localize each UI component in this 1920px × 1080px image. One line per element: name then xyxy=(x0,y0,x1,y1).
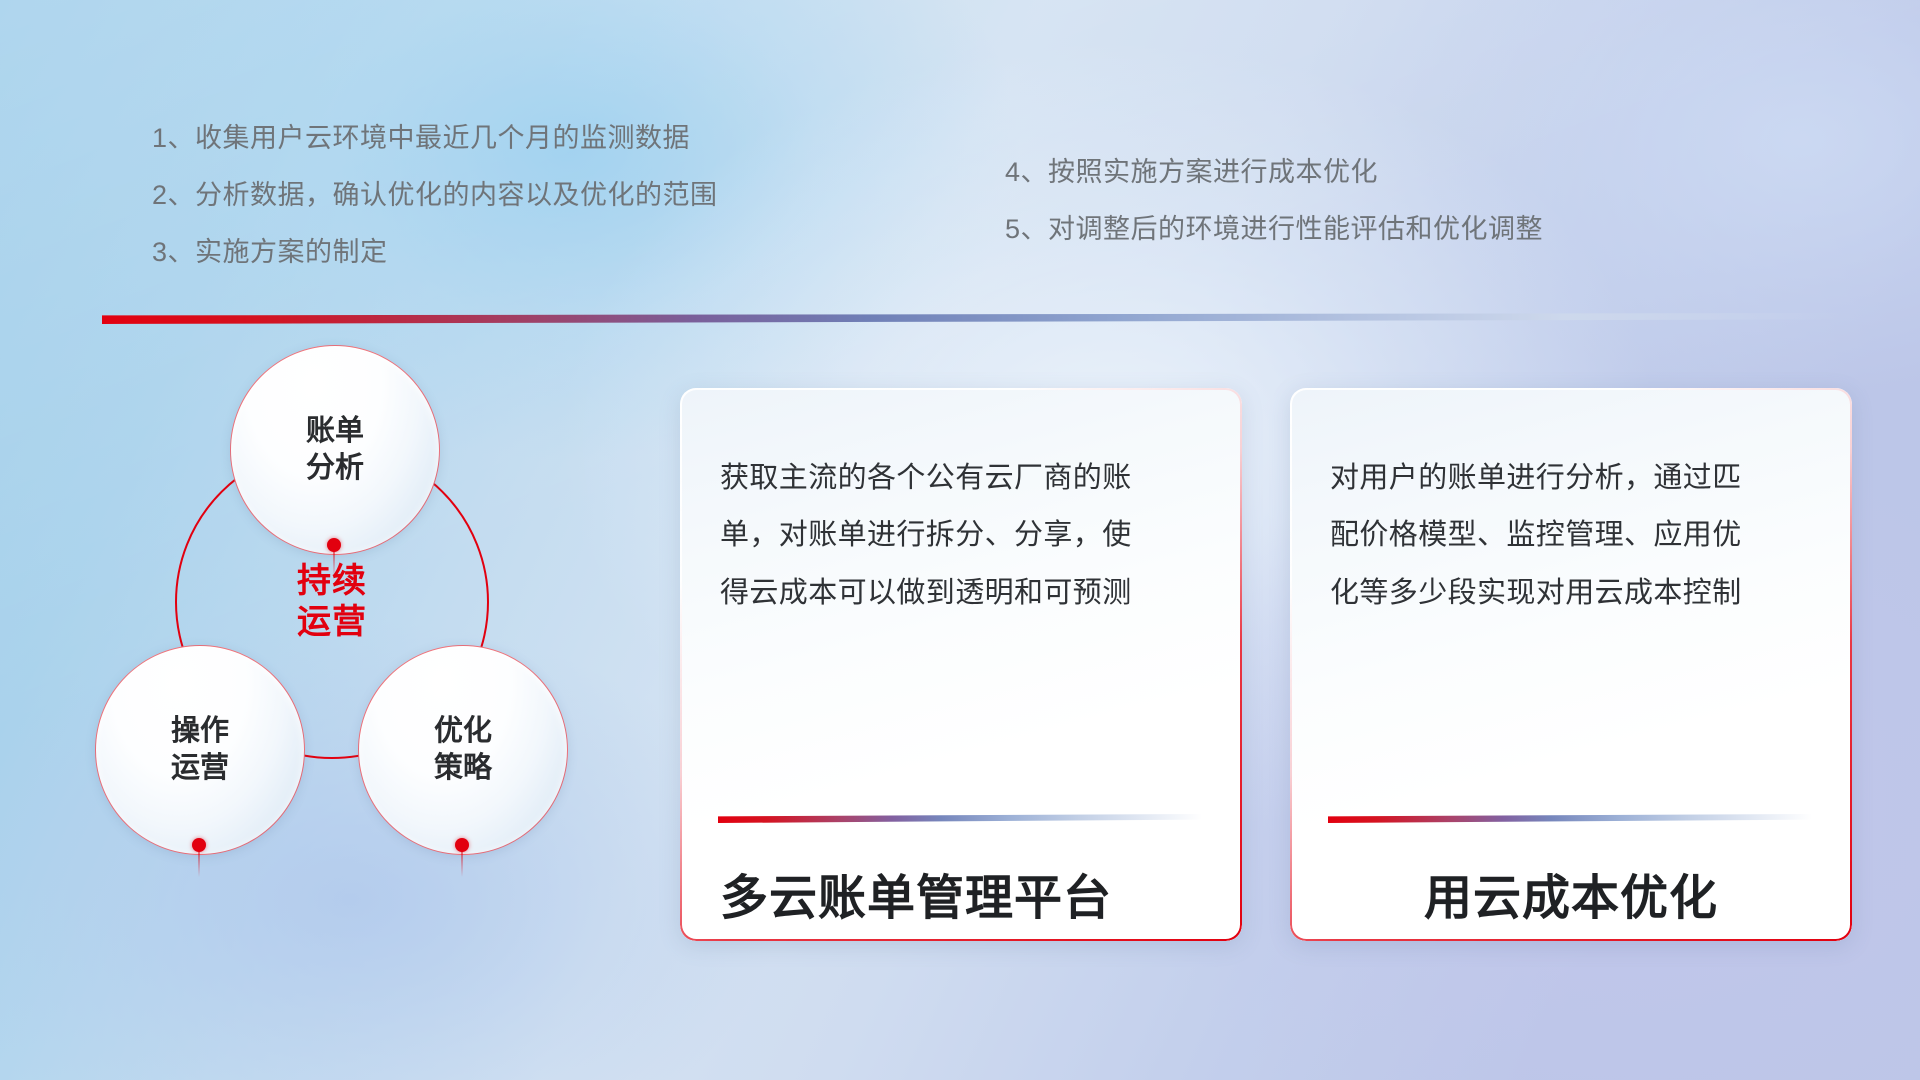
card-1-description-line2: 单，对账单进行拆分、分享，使 xyxy=(720,507,1206,564)
card-2-description: 对用户的账单进行分析，通过匹 配价格模型、监控管理、应用优 化等多少段实现对用云… xyxy=(1330,450,1816,622)
card-1-description-line1: 获取主流的各个公有云厂商的账 xyxy=(720,450,1206,507)
card-1-title: 多云账单管理平台 xyxy=(720,858,1212,928)
steps-list-right: 4、按照实施方案进行成本优化 5、对调整后的环境进行性能评估和优化调整 xyxy=(1005,159,1543,243)
node-dot-right xyxy=(455,838,469,852)
card-cloud-cost-optimization[interactable]: 对用户的账单进行分析，通过匹 配价格模型、监控管理、应用优 化等多少段实现对用云… xyxy=(1290,388,1852,941)
node-stem-top xyxy=(333,551,335,577)
card-1-description-line3: 得云成本可以做到透明和可预测 xyxy=(720,565,1206,622)
step-item-2: 2、分析数据，确认优化的内容以及优化的范围 xyxy=(152,182,718,209)
slide-canvas: 1、收集用户云环境中最近几个月的监测数据 2、分析数据，确认优化的内容以及优化的… xyxy=(0,0,1920,1080)
card-1-rule xyxy=(718,814,1202,823)
node-dot-left xyxy=(192,838,206,852)
step-item-1: 1、收集用户云环境中最近几个月的监测数据 xyxy=(152,125,718,152)
diagram-center-label-line2: 运营 xyxy=(297,602,367,643)
continuous-operations-diagram: 账单 分析 操作 运营 优化 策略 持续 运营 xyxy=(95,345,635,985)
card-2-description-line1: 对用户的账单进行分析，通过匹 xyxy=(1330,450,1816,507)
divider-bar xyxy=(102,313,1842,324)
card-2-description-line2: 配价格模型、监控管理、应用优 xyxy=(1330,507,1816,564)
step-item-4: 4、按照实施方案进行成本优化 xyxy=(1005,159,1543,186)
step-item-3: 3、实施方案的制定 xyxy=(152,239,718,266)
card-multi-cloud-billing-platform[interactable]: 获取主流的各个公有云厂商的账 单，对账单进行拆分、分享，使 得云成本可以做到透明… xyxy=(680,388,1242,941)
diagram-center-label-line1: 持续 xyxy=(297,561,367,602)
card-2-title: 用云成本优化 xyxy=(1320,858,1822,928)
node-dot-top xyxy=(327,538,341,552)
card-2-description-line3: 化等多少段实现对用云成本控制 xyxy=(1330,565,1816,622)
card-2-rule xyxy=(1328,814,1812,823)
node-stem-right xyxy=(461,851,463,877)
node-stem-left xyxy=(198,851,200,877)
card-1-description: 获取主流的各个公有云厂商的账 单，对账单进行拆分、分享，使 得云成本可以做到透明… xyxy=(720,450,1206,622)
step-item-5: 5、对调整后的环境进行性能评估和优化调整 xyxy=(1005,216,1543,243)
steps-list-left: 1、收集用户云环境中最近几个月的监测数据 2、分析数据，确认优化的内容以及优化的… xyxy=(152,125,718,266)
section-divider xyxy=(102,313,1842,324)
diagram-center-label: 持续 运营 xyxy=(175,445,489,759)
